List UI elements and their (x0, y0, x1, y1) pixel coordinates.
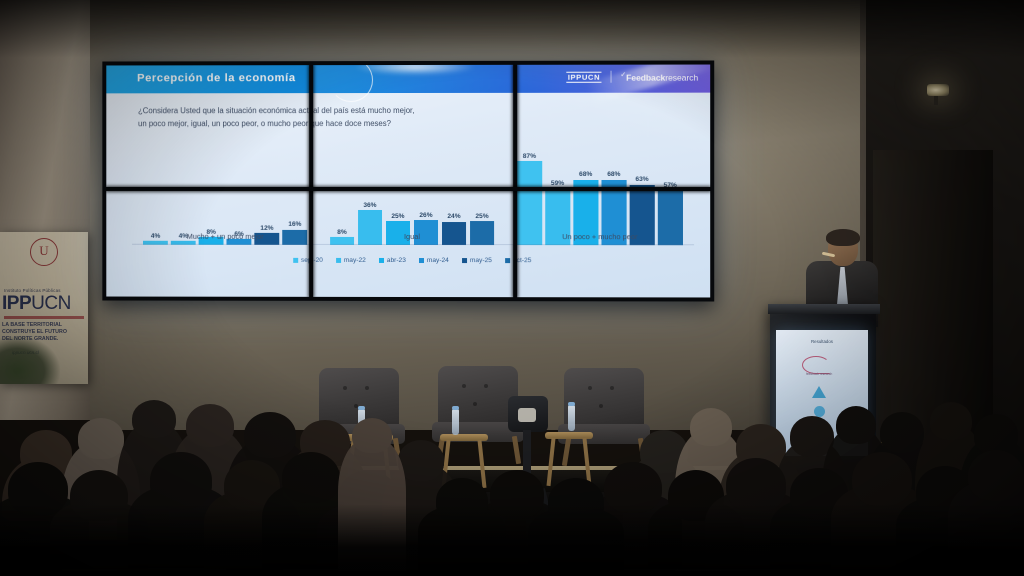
ceiling-shadow (0, 0, 1024, 58)
chart-group: 87%59%68%68%63%57%Un poco + mucho peor (506, 149, 694, 245)
presentation-slide: Percepción de la economía IPPUCN ✓Feedba… (106, 65, 710, 298)
audience-member-head (186, 404, 234, 447)
bar-value-label: 87% (523, 153, 536, 160)
triangle-icon (812, 386, 826, 398)
video-wall: Percepción de la economía IPPUCN ✓Feedba… (102, 60, 714, 301)
bar-value-label: 36% (363, 202, 376, 209)
door (873, 150, 993, 450)
legend-label: oct-25 (513, 257, 531, 264)
bar-value-label: 26% (419, 212, 432, 219)
slide-question: ¿Considera Usted que la situación económ… (138, 105, 415, 130)
wall-light-icon (927, 84, 949, 96)
bar-slot: 68% (601, 149, 626, 245)
bar-value-label: 25% (391, 212, 404, 219)
bar-slot: 8% (199, 149, 224, 245)
bar-chart: 4%4%8%6%12%16%Mucho + un poco mejor8%36%… (132, 149, 694, 267)
bar-value-label: 24% (447, 213, 460, 220)
chart-group-bars: 4%4%8%6%12%16% (143, 149, 307, 245)
chart-legend: sept-20may-22abr-23may-24may-25oct-25 (132, 257, 694, 265)
bar-slot: 87% (517, 149, 542, 245)
chair-back (564, 368, 644, 432)
bar-slot: 36% (358, 149, 383, 245)
legend-swatch (336, 258, 341, 263)
bar-value-label: 16% (288, 221, 301, 228)
legend-item: abr-23 (379, 257, 406, 264)
wall-light-stem (934, 96, 938, 105)
bar-slot: 12% (255, 149, 280, 245)
legend-swatch (293, 258, 298, 263)
conference-photo-scene: Instituto Políticas Públicas IPPUCN LA B… (0, 0, 1024, 576)
bar-value-label: 63% (635, 176, 648, 183)
bar-value-label: 68% (607, 171, 620, 178)
audience-member-head (132, 400, 176, 438)
audience-member-head (968, 450, 1024, 501)
chair-tuft (462, 384, 466, 388)
podium-screen-logo: feedback research (802, 356, 842, 372)
audience-member-head (150, 452, 212, 509)
audience-member-head (930, 402, 972, 440)
chart-axis-line (132, 244, 694, 245)
bar-slot: 57% (658, 149, 683, 245)
water-bottle-cap (358, 406, 365, 410)
banner-acronym: IPPUCN (2, 294, 88, 313)
audience-member-head (974, 414, 1018, 455)
bar-slot: 4% (171, 149, 196, 245)
chart-category-label: Un poco + mucho peor (506, 232, 694, 241)
banner-acronym-light: UCN (31, 293, 71, 314)
bar-slot: 25% (386, 149, 411, 245)
chair-tuft (343, 386, 347, 390)
slide-title: Percepción de la economía (137, 72, 296, 84)
chair-tuft (588, 386, 592, 390)
bar-slot: 6% (227, 149, 252, 245)
legend-item: may-25 (462, 257, 492, 264)
legend-label: may-24 (427, 257, 449, 264)
bar-slot: 25% (470, 149, 495, 245)
bar-slot: 26% (414, 149, 439, 245)
chart-group-bars: 8%36%25%26%24%25% (330, 149, 495, 245)
water-bottle-cap (568, 402, 575, 406)
banner-body-line1: LA BASE TERRITORIAL (2, 322, 88, 329)
camera-lens-icon (518, 408, 536, 422)
foreground-shadow (0, 504, 1024, 576)
audience-member-head (880, 412, 924, 453)
university-seal-icon (30, 238, 58, 266)
podium-top (768, 304, 880, 314)
bar-slot: 63% (630, 149, 655, 245)
legend-item: may-24 (419, 257, 449, 264)
bar-value-label: 25% (475, 213, 488, 220)
pullup-banner: Instituto Políticas Públicas IPPUCN LA B… (0, 232, 88, 384)
legend-item: sept-20 (293, 257, 323, 264)
bar-value-label: 12% (260, 225, 273, 232)
legend-swatch (419, 258, 424, 263)
chart-groups: 4%4%8%6%12%16%Mucho + un poco mejor8%36%… (132, 149, 694, 245)
audience-member-head (690, 408, 732, 446)
bar-slot: 4% (143, 149, 168, 245)
chart-group-bars: 87%59%68%68%63%57% (517, 149, 683, 245)
bar-slot: 59% (545, 149, 570, 245)
chair-tuft (365, 386, 369, 390)
legend-label: sept-20 (301, 257, 323, 264)
speaker-hair (826, 229, 860, 246)
audience-member-head (244, 412, 296, 458)
water-bottle (568, 405, 575, 431)
audience-member-head (282, 452, 340, 503)
bar-slot: 24% (442, 149, 467, 245)
chart-group: 8%36%25%26%24%25%Igual (318, 149, 505, 245)
chair-tuft (599, 404, 603, 408)
bar-value-label: 57% (664, 182, 677, 189)
audience-member-head (398, 440, 444, 481)
chart-group: 4%4%8%6%12%16%Mucho + un poco mejor (132, 149, 318, 245)
legend-label: may-25 (470, 257, 492, 264)
podium-screen-logo-caption: feedback research (806, 372, 832, 376)
chair-tuft (484, 384, 488, 388)
chair-tuft (473, 402, 477, 406)
bar-value-label: 68% (579, 171, 592, 178)
chart-category-label: Mucho + un poco mejor (132, 232, 318, 241)
legend-swatch (379, 258, 384, 263)
plant-foliage (0, 336, 60, 384)
screen-reflection-1 (355, 65, 475, 76)
legend-item: may-22 (336, 257, 366, 264)
bar-slot: 8% (330, 149, 355, 245)
legend-label: abr-23 (387, 257, 406, 264)
legend-item: oct-25 (505, 257, 531, 264)
podium-screen-title: Resultados (776, 339, 868, 344)
water-bottle-cap (452, 406, 459, 410)
chart-category-label: Igual (318, 232, 505, 241)
bar-slot: 68% (573, 149, 598, 245)
side-table-leg (478, 440, 487, 488)
legend-label: may-22 (344, 257, 366, 264)
audience-member-head (852, 452, 912, 506)
bar-value-label: 59% (551, 180, 564, 187)
banner-rule (4, 316, 84, 319)
legend-swatch (462, 258, 467, 263)
banner-acronym-bold: IPP (2, 293, 31, 314)
audience-member-head (78, 418, 124, 459)
chair-tuft (610, 386, 614, 390)
banner-body-line2: CONSTRUYE EL FUTURO (2, 329, 88, 336)
bar-slot: 16% (283, 149, 308, 245)
legend-swatch (505, 258, 510, 263)
audience-member-head (352, 418, 392, 453)
audience-member-head (836, 406, 876, 444)
water-bottle (452, 409, 459, 435)
